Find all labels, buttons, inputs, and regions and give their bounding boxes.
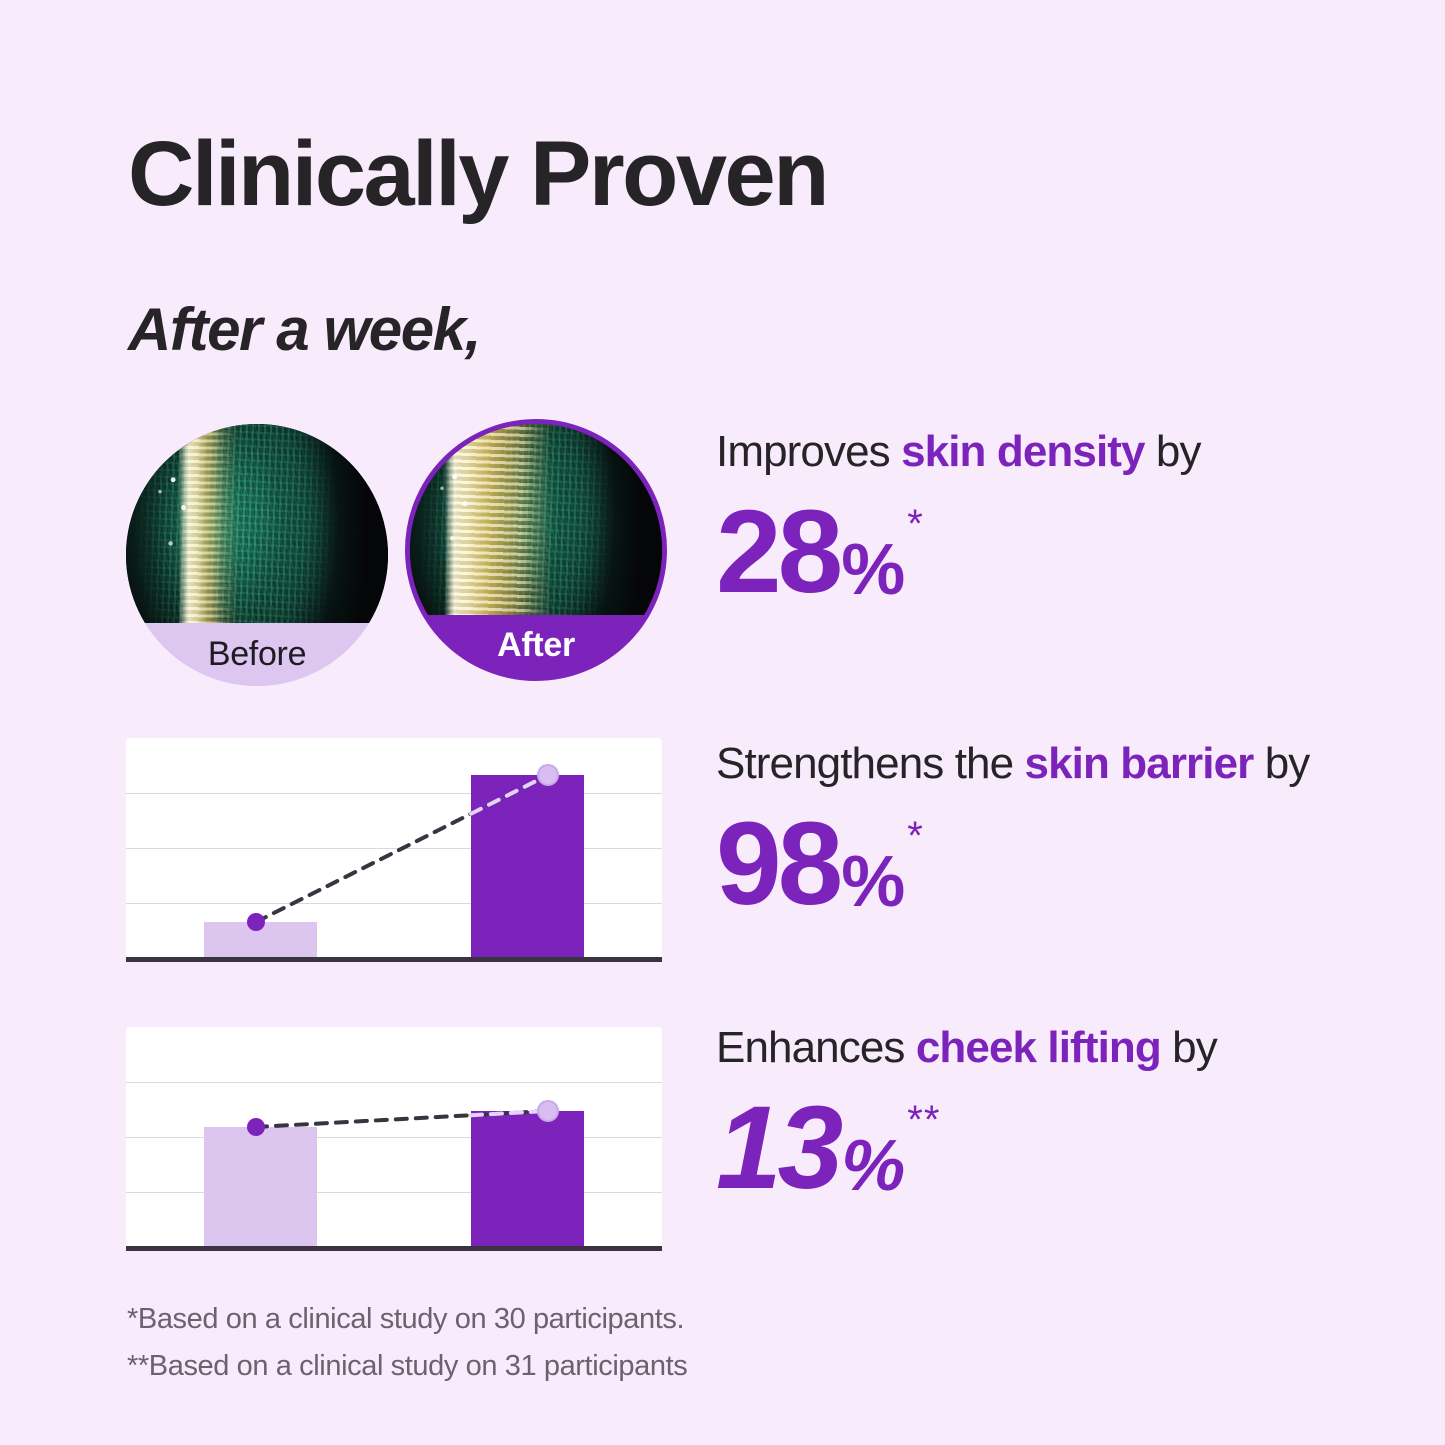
claim-text: Improves skin density by	[716, 428, 1201, 476]
bar-after	[471, 1111, 584, 1246]
footnote-single-asterisk: *Based on a clinical study on 30 partici…	[127, 1296, 687, 1343]
stat-footnote-marker: *	[907, 818, 924, 855]
before-image-circle: Before	[126, 424, 388, 686]
bar-before	[204, 1127, 317, 1246]
page-subtitle: After a week,	[128, 300, 480, 360]
stat-footnote-marker: *	[907, 506, 924, 543]
bar-after	[471, 775, 584, 957]
gridline	[126, 1082, 662, 1083]
after-microscopy-image	[409, 423, 663, 615]
before-microscopy-image	[126, 424, 388, 623]
stat-number: 28	[716, 498, 839, 607]
bright-specks	[126, 424, 388, 623]
stat-percent-sign: %	[841, 537, 903, 603]
bar-chart-cheek-lifting	[126, 1027, 662, 1251]
claim-cheek-lifting: Enhances cheek lifting by 13 % **	[716, 1024, 1217, 1203]
infographic-page: Clinically Proven After a week, Before A…	[0, 0, 1445, 1445]
claim-highlight: skin density	[901, 427, 1145, 476]
page-title: Clinically Proven	[128, 128, 827, 220]
claim-skin-barrier: Strengthens the skin barrier by 98 % *	[716, 740, 1309, 919]
claim-suffix: by	[1253, 739, 1309, 788]
after-label: After	[497, 626, 575, 665]
before-label-band: Before	[126, 623, 388, 686]
stat-percent-sign: %	[841, 1133, 903, 1199]
claim-highlight: cheek lifting	[916, 1023, 1161, 1072]
claim-suffix: by	[1161, 1023, 1217, 1072]
stat-footnote-marker: **	[907, 1102, 940, 1139]
claim-text: Strengthens the skin barrier by	[716, 740, 1309, 788]
before-label: Before	[208, 635, 306, 674]
claim-prefix: Improves	[716, 427, 901, 476]
bar-chart-skin-barrier	[126, 738, 662, 962]
claim-text: Enhances cheek lifting by	[716, 1024, 1217, 1072]
stat-number: 13	[716, 1094, 839, 1203]
footnote-double-asterisk: **Based on a clinical study on 31 partic…	[127, 1343, 687, 1390]
claim-prefix: Enhances	[716, 1023, 916, 1072]
claim-statistic: 98 % *	[716, 810, 1309, 919]
claim-prefix: Strengthens the	[716, 739, 1025, 788]
after-image-circle: After	[405, 419, 667, 681]
bright-specks	[409, 423, 663, 615]
stat-number: 98	[716, 810, 839, 919]
after-label-band: After	[410, 616, 662, 676]
stat-percent-sign: %	[841, 849, 903, 915]
bar-before	[204, 922, 317, 957]
footnotes: *Based on a clinical study on 30 partici…	[127, 1296, 687, 1390]
chart-baseline	[126, 957, 662, 962]
chart-baseline	[126, 1246, 662, 1251]
claim-skin-density: Improves skin density by 28 % *	[716, 428, 1201, 607]
claim-highlight: skin barrier	[1025, 739, 1254, 788]
claim-statistic: 28 % *	[716, 498, 1201, 607]
claim-statistic: 13 % **	[716, 1094, 1217, 1203]
claim-suffix: by	[1145, 427, 1201, 476]
